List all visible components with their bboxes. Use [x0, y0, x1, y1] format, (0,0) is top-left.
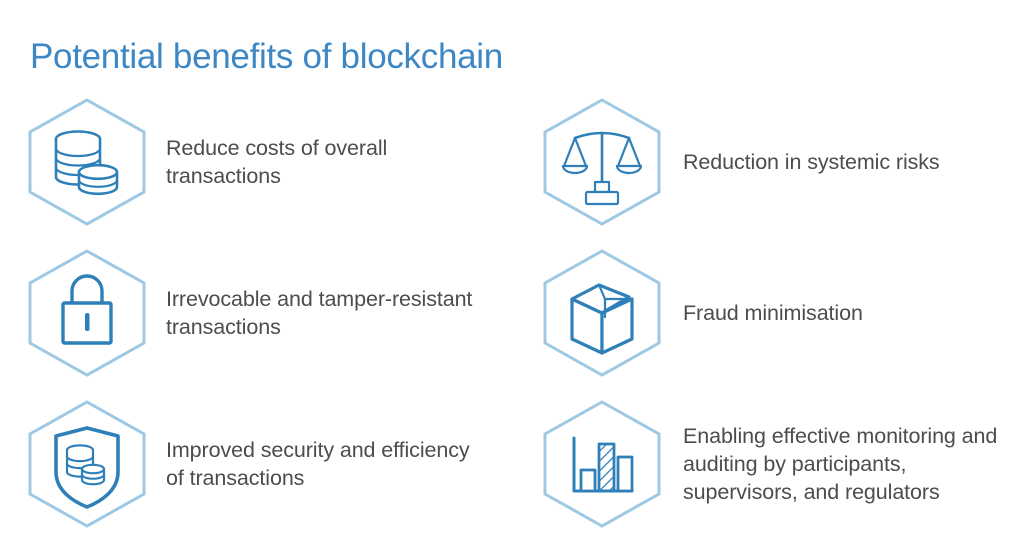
stacked-coins-icon	[22, 92, 152, 232]
benefit-label-fraud-minimisation: Fraud minimisation	[667, 299, 1007, 327]
hexagon-frame-reduce-costs	[22, 92, 152, 232]
benefit-item-reduce-costs: Reduce costs of overall transactions	[22, 92, 492, 232]
page-title: Potential benefits of blockchain	[30, 37, 503, 77]
balance-scales-icon	[537, 92, 667, 232]
benefit-label-reduce-costs: Reduce costs of overall transactions	[152, 134, 492, 190]
hexagon-frame-irrevocable	[22, 243, 152, 383]
benefit-item-irrevocable: Irrevocable and tamper-resistant transac…	[22, 243, 492, 383]
hexagon-frame-fraud-minimisation	[537, 243, 667, 383]
benefit-label-systemic-risks: Reduction in systemic risks	[667, 148, 1007, 176]
benefit-label-irrevocable: Irrevocable and tamper-resistant transac…	[152, 285, 492, 341]
padlock-icon	[22, 243, 152, 383]
package-box-icon	[537, 243, 667, 383]
benefit-item-fraud-minimisation: Fraud minimisation	[537, 243, 1007, 383]
benefit-label-improved-security: Improved security and efficiency of tran…	[152, 436, 492, 492]
hexagon-frame-monitoring-auditing	[537, 394, 667, 534]
shield-with-coins-icon	[22, 394, 152, 534]
benefits-grid: Reduce costs of overall transactions Irr…	[0, 88, 1024, 543]
hexagon-frame-systemic-risks	[537, 92, 667, 232]
benefit-item-systemic-risks: Reduction in systemic risks	[537, 92, 1007, 232]
infographic-page: Potential benefits of blockchain	[0, 0, 1024, 547]
benefit-item-improved-security: Improved security and efficiency of tran…	[22, 394, 492, 534]
benefit-item-monitoring-auditing: Enabling effective monitoring and auditi…	[537, 394, 1007, 534]
hexagon-frame-improved-security	[22, 394, 152, 534]
benefit-label-monitoring-auditing: Enabling effective monitoring and auditi…	[667, 422, 1007, 506]
bar-chart-icon	[537, 394, 667, 534]
